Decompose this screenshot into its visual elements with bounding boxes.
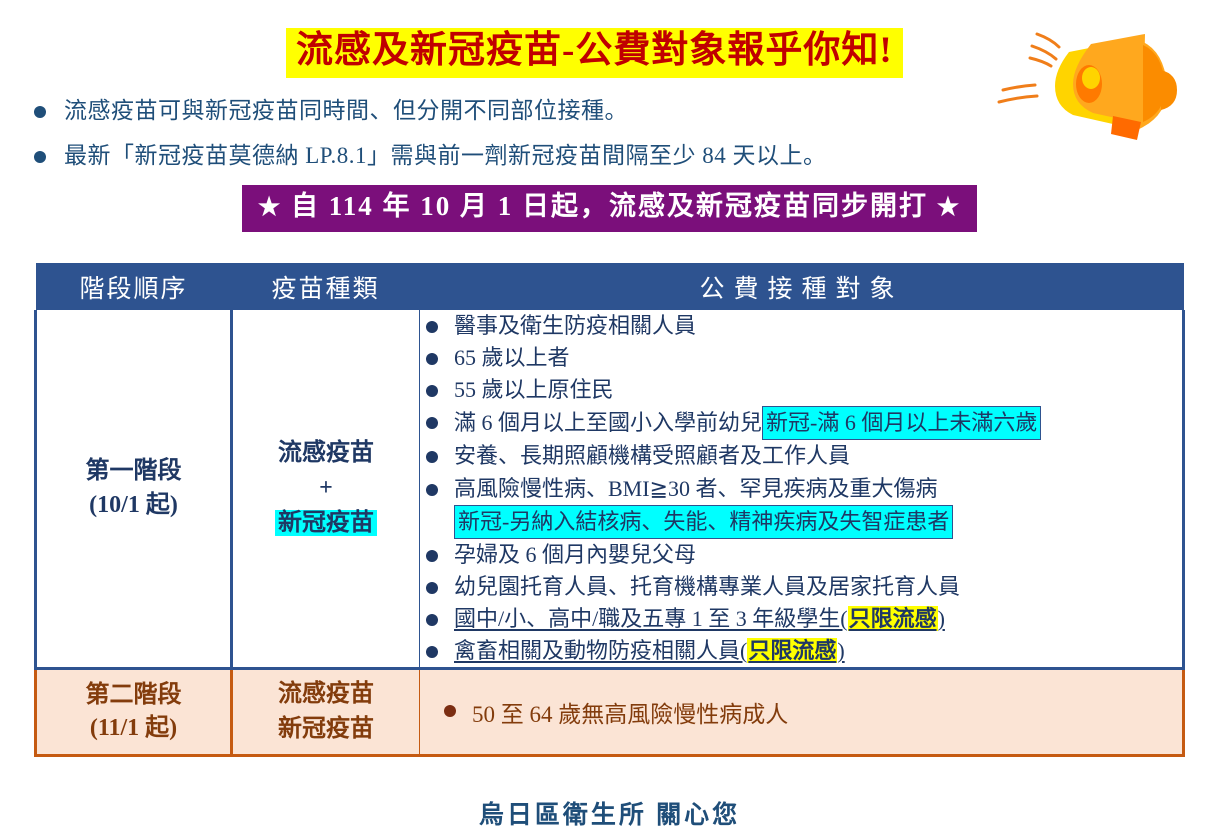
list-item: 孕婦及 6 個月內嬰兒父母 bbox=[420, 539, 1182, 571]
note-item: 最新「新冠疫苗莫德納 LP.8.1」需與前一劑新冠疫苗間隔至少 84 天以上。 bbox=[34, 140, 1219, 171]
banner-text: 自 114 年 10 月 1 日起，流感及新冠疫苗同步開打 bbox=[291, 191, 928, 221]
announcement-banner: ★ 自 114 年 10 月 1 日起，流感及新冠疫苗同步開打 ★ bbox=[242, 185, 977, 232]
list-item: 安養、長期照顧機構受照顧者及工作人員 bbox=[420, 440, 1182, 472]
list-item-suffix: ) bbox=[938, 606, 945, 631]
note-item: 流感疫苗可與新冠疫苗同時間、但分開不同部位接種。 bbox=[34, 95, 1219, 126]
list-item: 50 至 64 歲無高風險慢性病成人 bbox=[440, 695, 1182, 729]
list-item: 新冠-另納入結核病、失能、精神疾病及失智症患者 bbox=[420, 505, 1182, 539]
table-row: 第一階段 (10/1 起) 流感疫苗 + 新冠疫苗 醫事及衛生防疫相關人員 65… bbox=[36, 310, 1184, 669]
stage-1-name: 第一階段 bbox=[37, 455, 230, 489]
stage-2-vaccine-type: 流感疫苗 新冠疫苗 bbox=[232, 669, 420, 756]
list-item: 醫事及衛生防疫相關人員 bbox=[420, 310, 1182, 342]
footer-text: 烏日區衛生所 關心您 bbox=[0, 795, 1219, 831]
list-item: 禽畜相關及動物防疫相關人員(只限流感) bbox=[420, 635, 1182, 667]
flu-only-badge: 只限流感 bbox=[747, 638, 837, 663]
page-title: 流感及新冠疫苗-公費對象報乎你知! bbox=[286, 28, 903, 78]
header-target: 公費接種對象 bbox=[420, 263, 1184, 310]
target-list: 醫事及衛生防疫相關人員 65 歲以上者 55 歲以上原住民 滿 6 個月以上至國… bbox=[420, 310, 1182, 667]
stage-1-label: 第一階段 (10/1 起) bbox=[36, 310, 232, 669]
list-item: 幼兒園托育人員、托育機構專業人員及居家托育人員 bbox=[420, 571, 1182, 603]
stage-2-targets: 50 至 64 歲無高風險慢性病成人 bbox=[420, 669, 1184, 756]
stage-2-date: (11/1 起) bbox=[37, 712, 230, 746]
list-item: 65 歲以上者 bbox=[420, 342, 1182, 374]
vaccine-plus-sign: + bbox=[233, 471, 419, 506]
list-item: 國中/小、高中/職及五專 1 至 3 年級學生(只限流感) bbox=[420, 603, 1182, 635]
stage-1-vaccine-type: 流感疫苗 + 新冠疫苗 bbox=[232, 310, 420, 669]
list-item: 高風險慢性病、BMI≧30 者、罕見疾病及重大傷病 bbox=[420, 473, 1182, 505]
title-row: 流感及新冠疫苗-公費對象報乎你知! bbox=[0, 0, 1219, 95]
star-icon-right: ★ bbox=[937, 194, 961, 221]
covid-note-badge: 新冠-滿 6 個月以上未滿六歲 bbox=[762, 406, 1041, 440]
covid-note-badge: 新冠-另納入結核病、失能、精神疾病及失智症患者 bbox=[454, 505, 953, 539]
vaccine-covid-wrap: 新冠疫苗 bbox=[233, 506, 419, 541]
list-item-text: 滿 6 個月以上至國小入學前幼兒 bbox=[454, 410, 762, 435]
stage-1-date: (10/1 起) bbox=[37, 489, 230, 523]
list-item-text: 國中/小、高中/職及五專 1 至 3 年級學生( bbox=[454, 606, 848, 631]
stage-2-label: 第二階段 (11/1 起) bbox=[36, 669, 232, 756]
vaccine-covid: 新冠疫苗 bbox=[275, 510, 377, 536]
table-row: 第二階段 (11/1 起) 流感疫苗 新冠疫苗 50 至 64 歲無高風險慢性病… bbox=[36, 669, 1184, 756]
list-item-text: 禽畜相關及動物防疫相關人員( bbox=[454, 638, 747, 663]
header-stage: 階段順序 bbox=[36, 263, 232, 310]
vaccine-covid: 新冠疫苗 bbox=[233, 712, 419, 747]
vaccine-flu: 流感疫苗 bbox=[233, 436, 419, 471]
vaccine-schedule-table: 階段順序 疫苗種類 公費接種對象 第一階段 (10/1 起) 流感疫苗 + 新冠… bbox=[34, 263, 1185, 757]
table-header-row: 階段順序 疫苗種類 公費接種對象 bbox=[36, 263, 1184, 310]
banner-row: ★ 自 114 年 10 月 1 日起，流感及新冠疫苗同步開打 ★ bbox=[0, 185, 1219, 232]
stage-2-name: 第二階段 bbox=[37, 679, 230, 713]
header-vaccine-type: 疫苗種類 bbox=[232, 263, 420, 310]
list-item-suffix: ) bbox=[837, 638, 844, 663]
star-icon-left: ★ bbox=[258, 194, 282, 221]
stage-1-targets: 醫事及衛生防疫相關人員 65 歲以上者 55 歲以上原住民 滿 6 個月以上至國… bbox=[420, 310, 1184, 669]
vaccine-flu: 流感疫苗 bbox=[233, 677, 419, 712]
flu-only-badge: 只限流感 bbox=[848, 606, 938, 631]
list-item: 55 歲以上原住民 bbox=[420, 374, 1182, 406]
list-item: 滿 6 個月以上至國小入學前幼兒新冠-滿 6 個月以上未滿六歲 bbox=[420, 406, 1182, 440]
